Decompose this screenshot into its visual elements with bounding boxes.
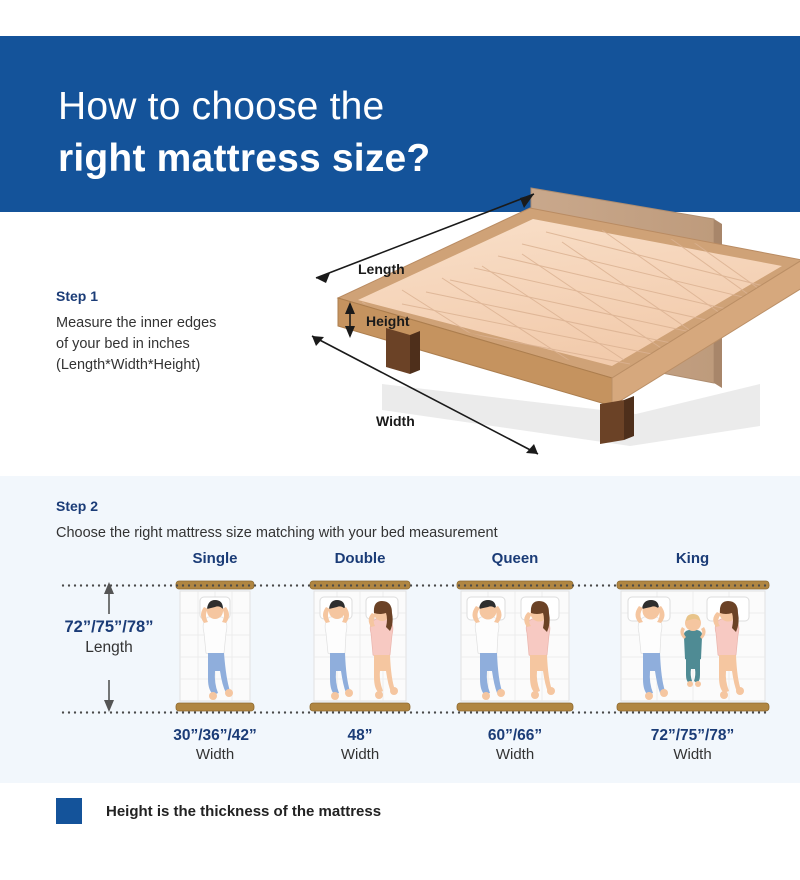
size-width-caption-single: Width xyxy=(150,746,280,763)
length-arrow-down-icon xyxy=(104,680,114,712)
step-1-block: Step 1 Measure the inner edges of your b… xyxy=(56,288,306,376)
page-title-line-2: right mattress size? xyxy=(58,134,430,184)
legend-color-swatch xyxy=(56,798,82,824)
size-width-value-queen: 60”/66” xyxy=(445,727,585,745)
width-label: Width xyxy=(376,413,415,429)
step-1-description-line-1: Measure the inner edges xyxy=(56,313,306,334)
mattress-king-icon xyxy=(610,575,775,715)
bed-leg-left xyxy=(386,328,420,374)
step-1-description: Measure the inner edges of your bed in i… xyxy=(56,313,306,376)
mattress-double-icon xyxy=(295,575,425,715)
footer-legend: Height is the thickness of the mattress xyxy=(56,798,381,824)
size-width-value-king: 72”/75”/78” xyxy=(610,727,775,745)
size-column-queen[interactable]: Queen xyxy=(445,550,585,763)
size-column-single[interactable]: Single xyxy=(150,550,280,763)
mattress-queen-icon xyxy=(445,575,585,715)
step-2-label: Step 2 xyxy=(56,498,756,514)
height-label: Height xyxy=(366,313,410,329)
step-2-block: Step 2 Choose the right mattress size ma… xyxy=(56,498,756,544)
bed-leg-front xyxy=(600,396,634,444)
mattress-single-icon xyxy=(150,575,280,715)
step-1-label: Step 1 xyxy=(56,288,306,304)
size-column-double[interactable]: Double xyxy=(295,550,425,763)
size-column-king[interactable]: King xyxy=(610,550,775,763)
legend-label: Height is the thickness of the mattress xyxy=(106,803,381,820)
length-guide-line-top xyxy=(60,584,770,587)
step-1-description-line-2: of your bed in inches xyxy=(56,334,306,355)
length-label: Length xyxy=(358,261,405,277)
bed-diagram-svg: Length Height Width xyxy=(290,178,800,468)
size-width-value-single: 30”/36”/42” xyxy=(150,727,280,745)
page-title: How to choose the right mattress size? xyxy=(58,82,430,184)
size-width-caption-king: Width xyxy=(610,746,775,763)
size-name-queen: Queen xyxy=(445,550,585,567)
bed-illustration: Length Height Width xyxy=(290,178,800,468)
size-width-value-double: 48” xyxy=(295,727,425,745)
step-2-description: Choose the right mattress size matching … xyxy=(56,523,756,544)
size-width-caption-queen: Width xyxy=(445,746,585,763)
page-title-line-1: How to choose the xyxy=(58,82,430,132)
size-name-double: Double xyxy=(295,550,425,567)
length-guide-line-bottom xyxy=(60,711,770,714)
step-1-description-line-3: (Length*Width*Height) xyxy=(56,355,306,376)
size-name-king: King xyxy=(610,550,775,567)
size-width-caption-double: Width xyxy=(295,746,425,763)
size-name-single: Single xyxy=(150,550,280,567)
